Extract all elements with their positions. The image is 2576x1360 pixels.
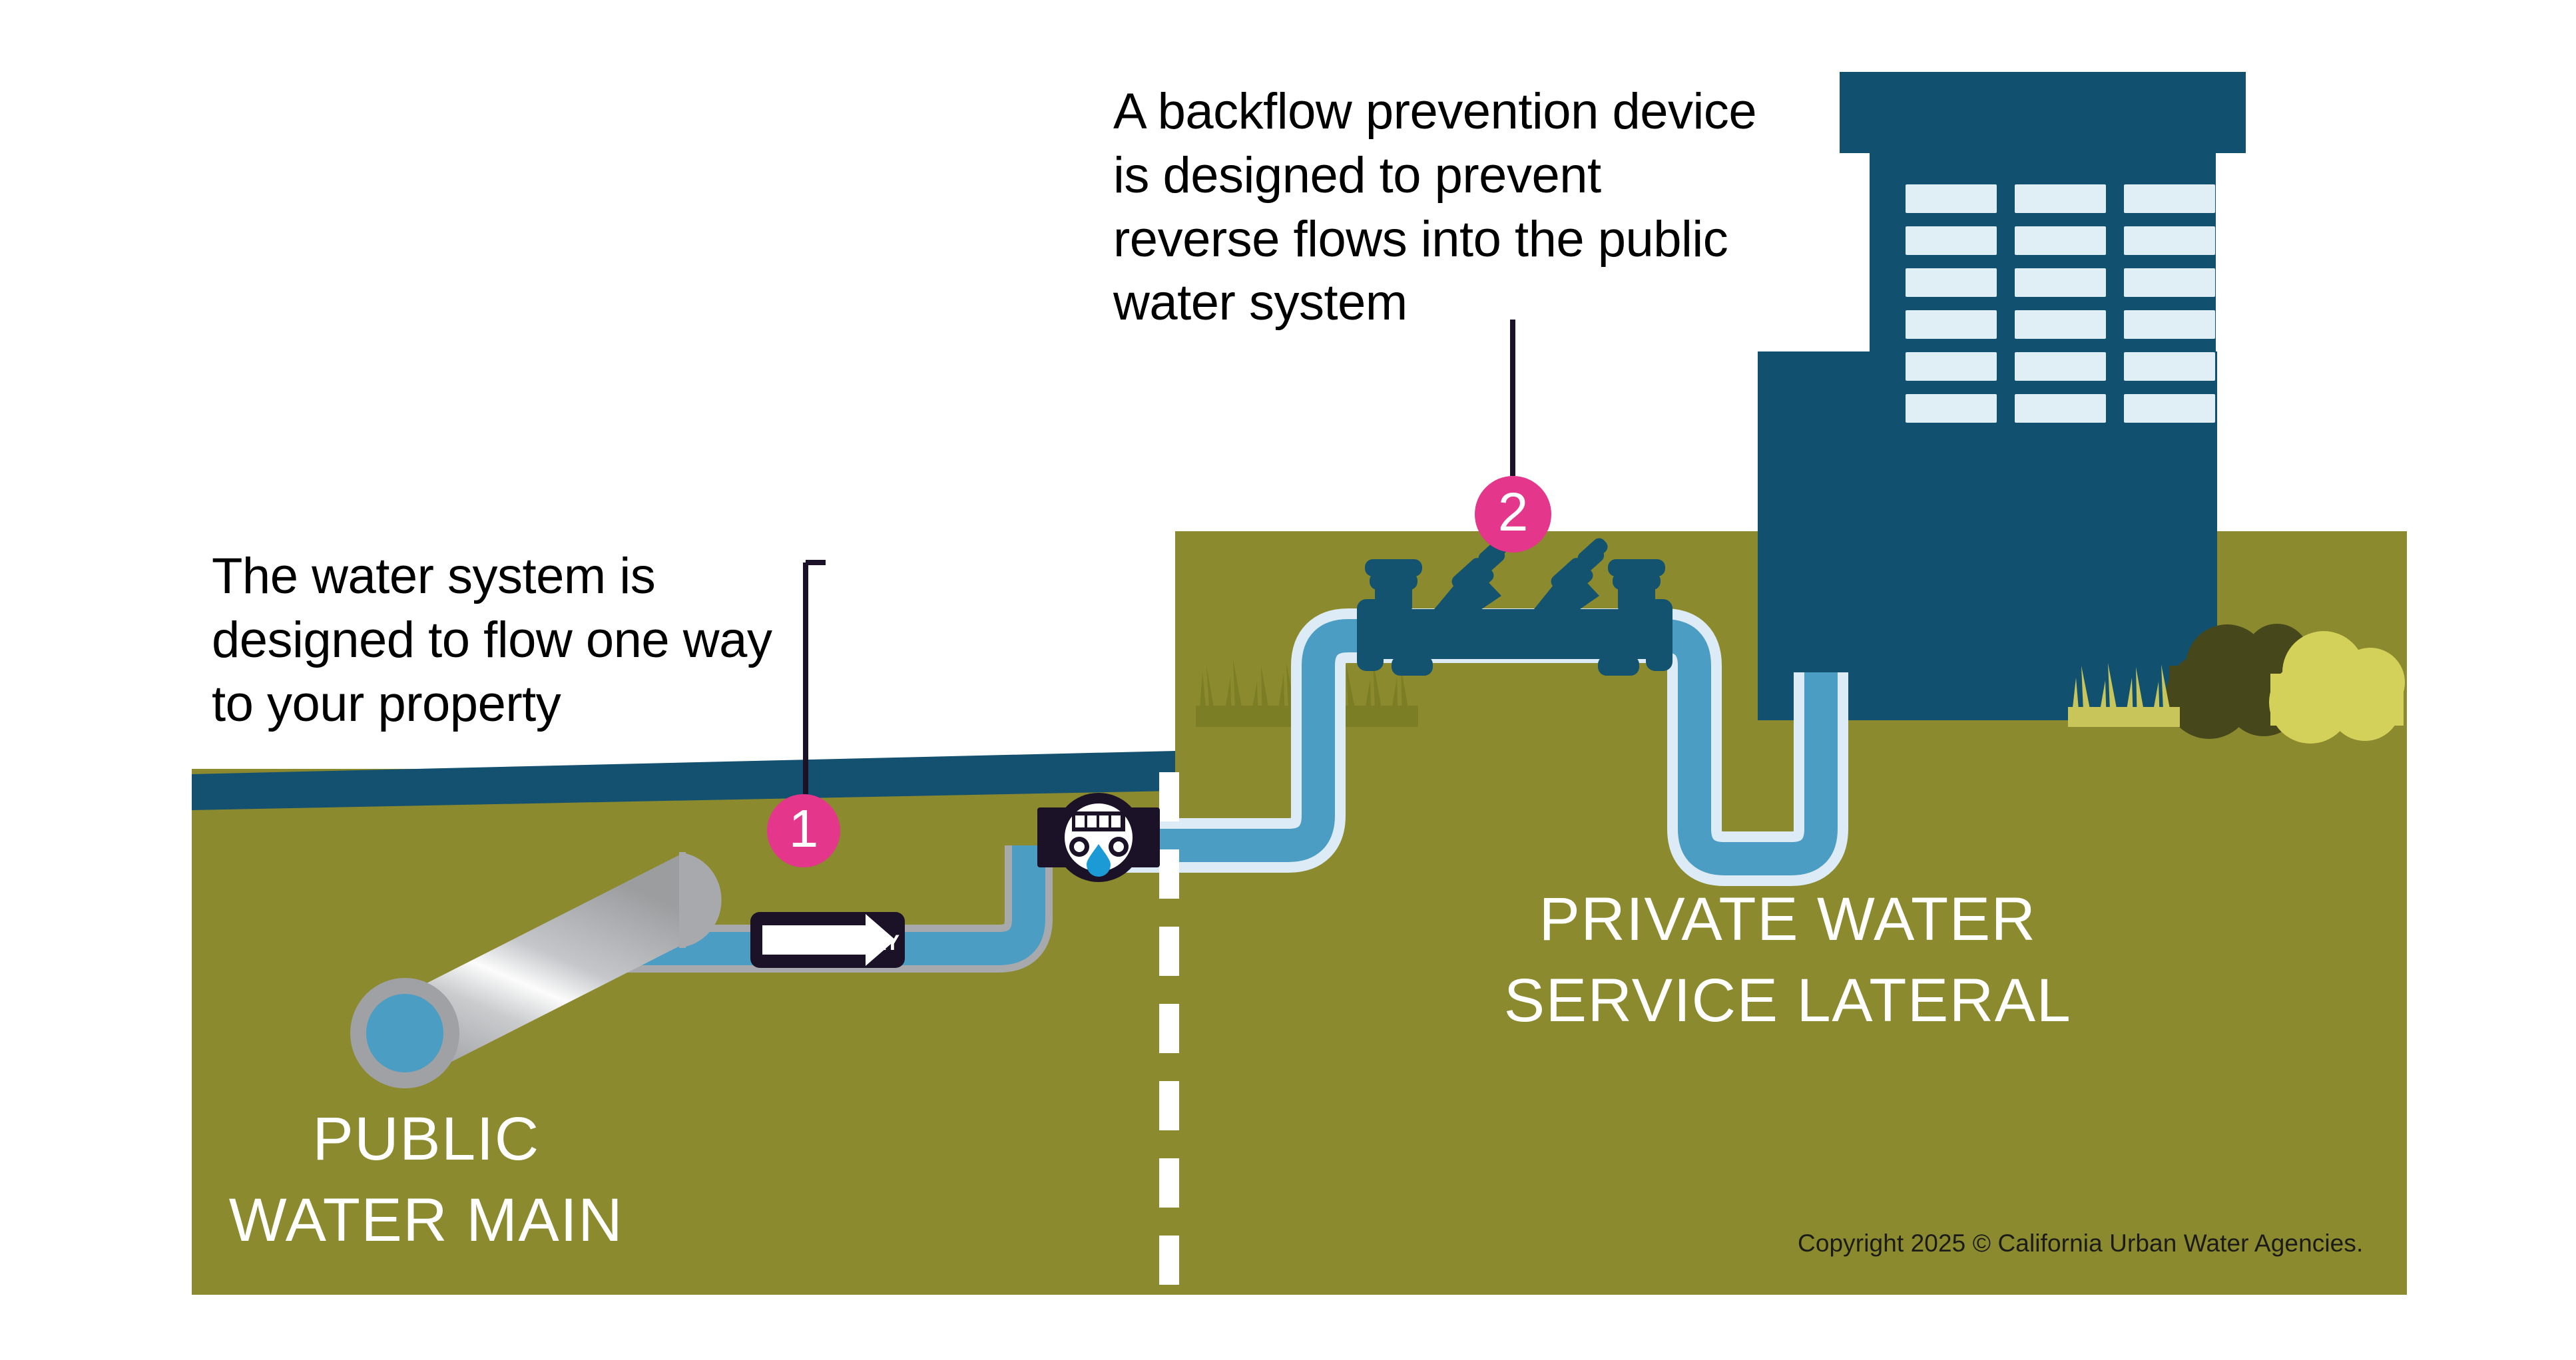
callout-badge-1-number: 1 — [789, 798, 819, 859]
private-water-service-lateral-label: PRIVATE WATER SERVICE LATERAL — [1451, 879, 2124, 1042]
infographic-canvas: The water system is designed to flow one… — [0, 0, 2576, 1360]
callout-right-text: A backflow prevention device is designed… — [1113, 80, 1859, 335]
public-water-main-label: PUBLIC WATER MAIN — [133, 1098, 719, 1261]
callout-badge-1[interactable]: 1 — [767, 794, 840, 867]
callout-badge-2-number: 2 — [1498, 481, 1529, 544]
one-way-sign-label: ONE WAY — [782, 931, 915, 955]
copyright-text: Copyright 2025 © California Urban Water … — [1798, 1228, 2363, 1259]
callout-left-text: The water system is designed to flow one… — [212, 545, 878, 736]
callout-badge-2[interactable]: 2 — [1475, 476, 1551, 553]
building-roof-cap — [1840, 72, 2246, 153]
pipe-opening-water — [366, 994, 443, 1072]
